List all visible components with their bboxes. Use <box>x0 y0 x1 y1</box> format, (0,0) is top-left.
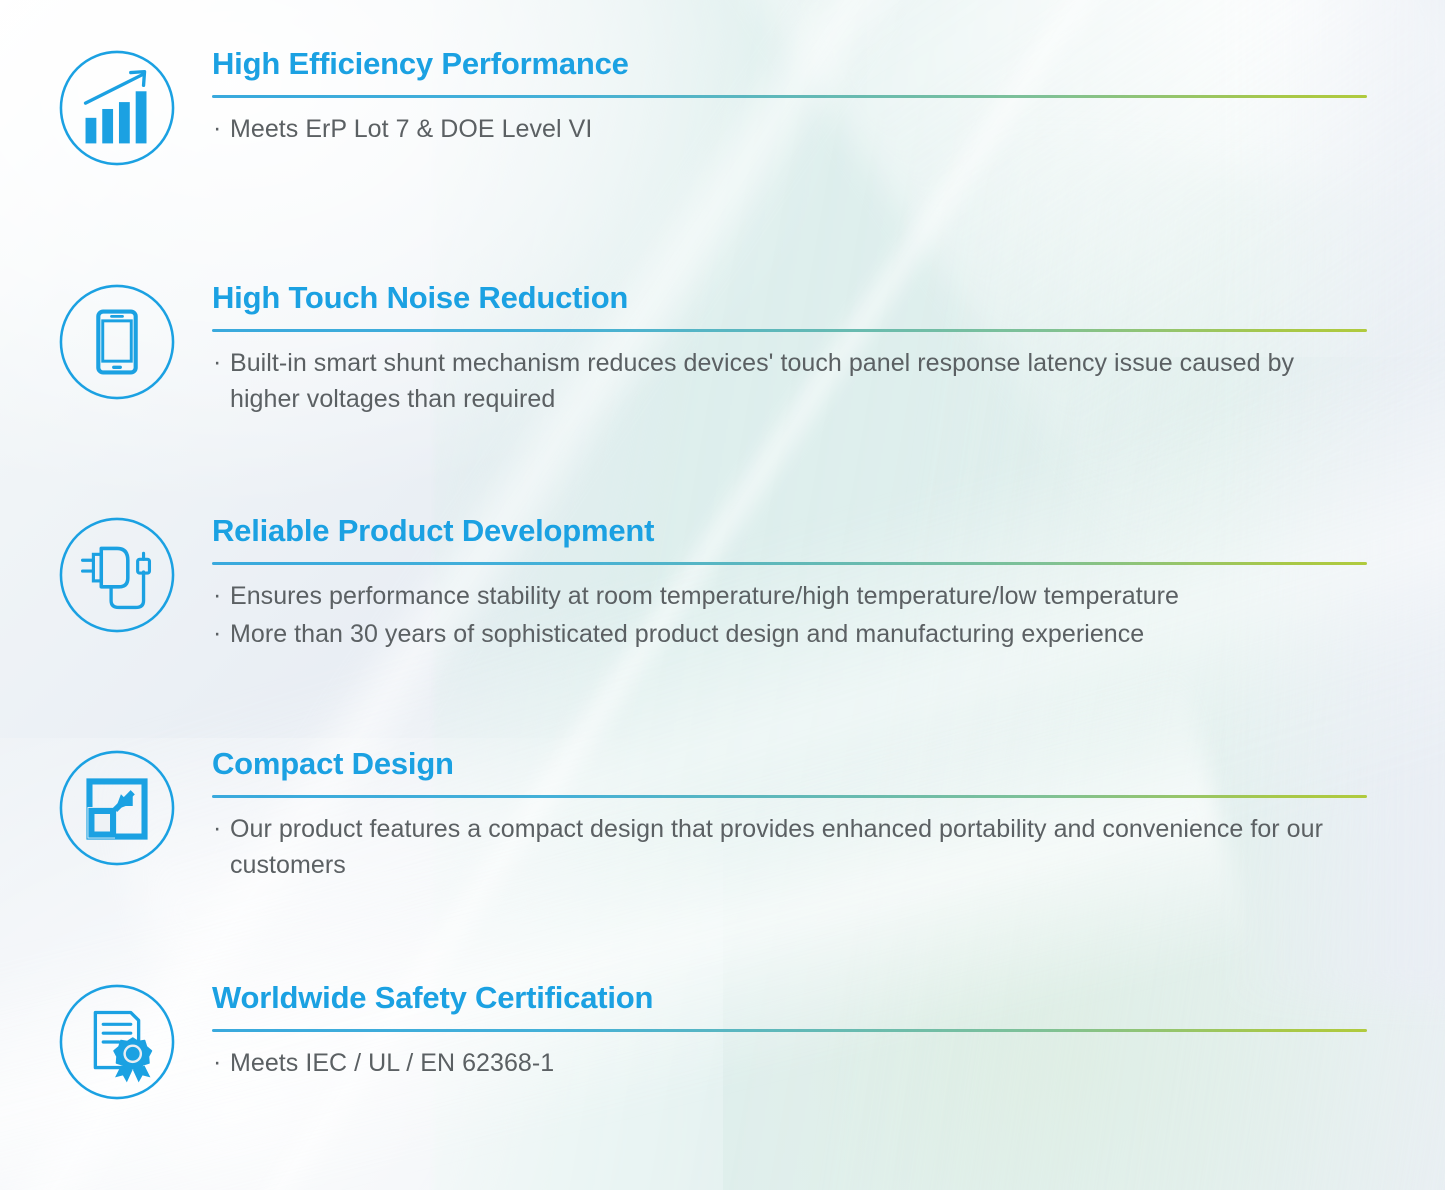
feature-icon-container <box>52 514 182 634</box>
feature-body: Worldwide Safety Certification Meets IEC… <box>212 981 1445 1084</box>
feature-icon-container <box>52 281 182 401</box>
feature-body: Reliable Product Development Ensures per… <box>212 514 1445 654</box>
feature-title: Reliable Product Development <box>212 514 1367 548</box>
feature-body: High Touch Noise Reduction Built-in smar… <box>212 281 1445 419</box>
feature-divider <box>212 329 1367 332</box>
feature-bullet: Ensures performance stability at room te… <box>212 579 1367 615</box>
feature-title: High Touch Noise Reduction <box>212 281 1367 315</box>
feature-bullet: Our product features a compact design th… <box>212 812 1367 883</box>
feature-bullet-list: Meets ErP Lot 7 & DOE Level VI <box>212 112 1367 148</box>
feature-body: High Efficiency Performance Meets ErP Lo… <box>212 47 1445 150</box>
certificate-seal-icon <box>58 983 176 1101</box>
feature-bullet: Meets IEC / UL / EN 62368-1 <box>212 1046 1367 1082</box>
feature-highlights-page: High Efficiency Performance Meets ErP Lo… <box>0 0 1445 1190</box>
smartphone-icon <box>58 283 176 401</box>
feature-item-worldwide-safety-certification: Worldwide Safety Certification Meets IEC… <box>0 981 1445 1101</box>
feature-bullet-list: Ensures performance stability at room te… <box>212 579 1367 652</box>
feature-body: Compact Design Our product features a co… <box>212 747 1445 885</box>
feature-icon-container <box>52 981 182 1101</box>
feature-title: High Efficiency Performance <box>212 47 1367 81</box>
feature-item-reliable-product-development: Reliable Product Development Ensures per… <box>0 514 1445 654</box>
feature-divider <box>212 1029 1367 1032</box>
feature-bullet-list: Our product features a compact design th… <box>212 812 1367 883</box>
feature-bullet: Meets ErP Lot 7 & DOE Level VI <box>212 112 1367 148</box>
feature-title: Compact Design <box>212 747 1367 781</box>
feature-divider <box>212 562 1367 565</box>
compact-resize-icon <box>58 749 176 867</box>
feature-item-high-touch-noise-reduction: High Touch Noise Reduction Built-in smar… <box>0 281 1445 419</box>
feature-divider <box>212 795 1367 798</box>
feature-divider <box>212 95 1367 98</box>
feature-icon-container <box>52 47 182 167</box>
feature-bullet: Built-in smart shunt mechanism reduces d… <box>212 346 1367 417</box>
feature-item-compact-design: Compact Design Our product features a co… <box>0 747 1445 885</box>
feature-title: Worldwide Safety Certification <box>212 981 1367 1015</box>
power-adapter-icon <box>58 516 176 634</box>
feature-bullet-list: Built-in smart shunt mechanism reduces d… <box>212 346 1367 417</box>
feature-item-high-efficiency-performance: High Efficiency Performance Meets ErP Lo… <box>0 47 1445 167</box>
feature-bullet: More than 30 years of sophisticated prod… <box>212 617 1367 653</box>
bar-chart-growth-icon <box>58 49 176 167</box>
feature-icon-container <box>52 747 182 867</box>
feature-bullet-list: Meets IEC / UL / EN 62368-1 <box>212 1046 1367 1082</box>
